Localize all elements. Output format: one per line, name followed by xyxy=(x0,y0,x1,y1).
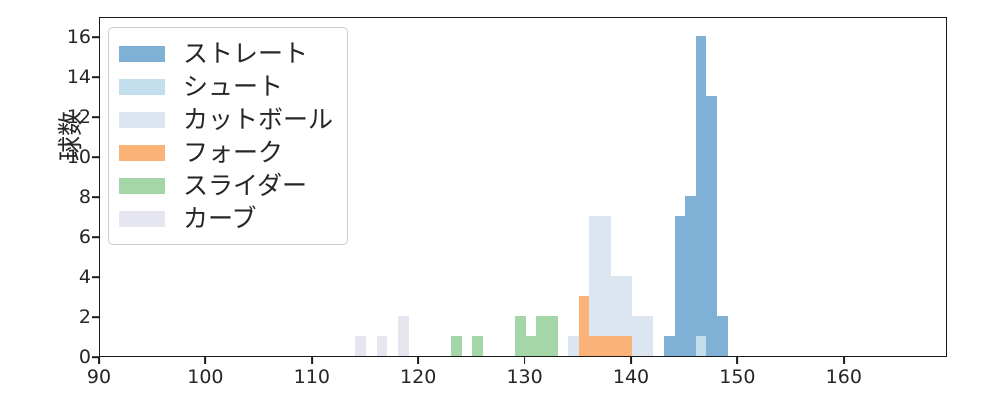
y-tick-label: 10 xyxy=(67,146,91,168)
y-axis-tick-labels: 0246810121416 xyxy=(53,17,91,357)
y-tick-label: 4 xyxy=(79,266,91,288)
legend-swatch-icon xyxy=(119,145,165,161)
histogram-bar xyxy=(398,316,409,356)
x-axis-tick-labels: 90100110120130140150160 xyxy=(99,366,947,394)
y-tick-mark xyxy=(92,236,99,238)
y-tick-label: 0 xyxy=(79,346,91,368)
histogram-bar xyxy=(675,216,686,356)
legend-swatch-icon xyxy=(119,211,165,227)
y-tick-mark xyxy=(92,36,99,38)
histogram-bar xyxy=(589,336,632,356)
x-tick-mark xyxy=(736,357,738,364)
histogram-bar xyxy=(664,336,675,356)
x-tick-label: 120 xyxy=(400,366,436,388)
legend-label: スライダー xyxy=(183,173,307,198)
histogram-bar xyxy=(632,316,653,356)
histogram-bar xyxy=(706,96,717,356)
y-tick-label: 8 xyxy=(79,186,91,208)
x-tick-mark xyxy=(843,357,845,364)
legend-swatch-icon xyxy=(119,178,165,194)
legend-swatch-icon xyxy=(119,112,165,128)
legend-label: カーブ xyxy=(183,206,257,231)
y-tick-label: 12 xyxy=(67,106,91,128)
x-tick-mark xyxy=(204,357,206,364)
x-tick-mark xyxy=(524,357,526,364)
histogram-bar xyxy=(451,336,462,356)
legend-swatch-icon xyxy=(119,79,165,95)
x-tick-label: 130 xyxy=(506,366,542,388)
histogram-bar xyxy=(515,316,526,356)
legend-item[interactable]: カーブ xyxy=(119,202,333,235)
y-tick-mark xyxy=(92,276,99,278)
x-tick-mark xyxy=(417,357,419,364)
y-tick-label: 6 xyxy=(79,226,91,248)
histogram-figure: 球数 0246810121416 90100110120130140150160… xyxy=(0,0,1000,400)
x-tick-label: 90 xyxy=(87,366,111,388)
y-tick-mark xyxy=(92,316,99,318)
histogram-bar xyxy=(355,336,366,356)
x-axis-tick-marks xyxy=(99,357,947,365)
y-tick-mark xyxy=(92,156,99,158)
y-tick-mark xyxy=(92,76,99,78)
x-tick-mark xyxy=(311,357,313,364)
histogram-bar xyxy=(472,336,483,356)
legend-item[interactable]: シュート xyxy=(119,70,333,103)
legend-label: シュート xyxy=(183,74,283,99)
legend-label: カットボール xyxy=(183,107,333,132)
histogram-bar xyxy=(717,316,728,356)
x-tick-label: 100 xyxy=(187,366,223,388)
y-tick-label: 16 xyxy=(67,26,91,48)
histogram-bar xyxy=(589,216,610,356)
legend: ストレートシュートカットボールフォークスライダーカーブ xyxy=(108,27,348,245)
x-tick-mark xyxy=(98,357,100,364)
legend-item[interactable]: カットボール xyxy=(119,103,333,136)
x-tick-label: 140 xyxy=(613,366,649,388)
histogram-bar xyxy=(696,36,707,356)
y-tick-mark xyxy=(92,116,99,118)
legend-swatch-icon xyxy=(119,46,165,62)
histogram-bar xyxy=(526,336,537,356)
histogram-bar xyxy=(696,336,707,356)
x-tick-label: 160 xyxy=(826,366,862,388)
histogram-bar xyxy=(579,296,590,356)
legend-item[interactable]: スライダー xyxy=(119,169,333,202)
y-axis-tick-marks xyxy=(92,17,99,357)
histogram-bar xyxy=(377,336,388,356)
legend-item[interactable]: フォーク xyxy=(119,136,333,169)
histogram-bar xyxy=(536,316,557,356)
x-tick-mark xyxy=(630,357,632,364)
x-tick-label: 110 xyxy=(294,366,330,388)
legend-label: ストレート xyxy=(183,41,308,66)
histogram-bar xyxy=(685,196,696,356)
legend-item[interactable]: ストレート xyxy=(119,37,333,70)
y-tick-mark xyxy=(92,196,99,198)
legend-label: フォーク xyxy=(183,140,283,165)
x-tick-label: 150 xyxy=(719,366,755,388)
y-tick-label: 14 xyxy=(67,66,91,88)
y-tick-label: 2 xyxy=(79,306,91,328)
